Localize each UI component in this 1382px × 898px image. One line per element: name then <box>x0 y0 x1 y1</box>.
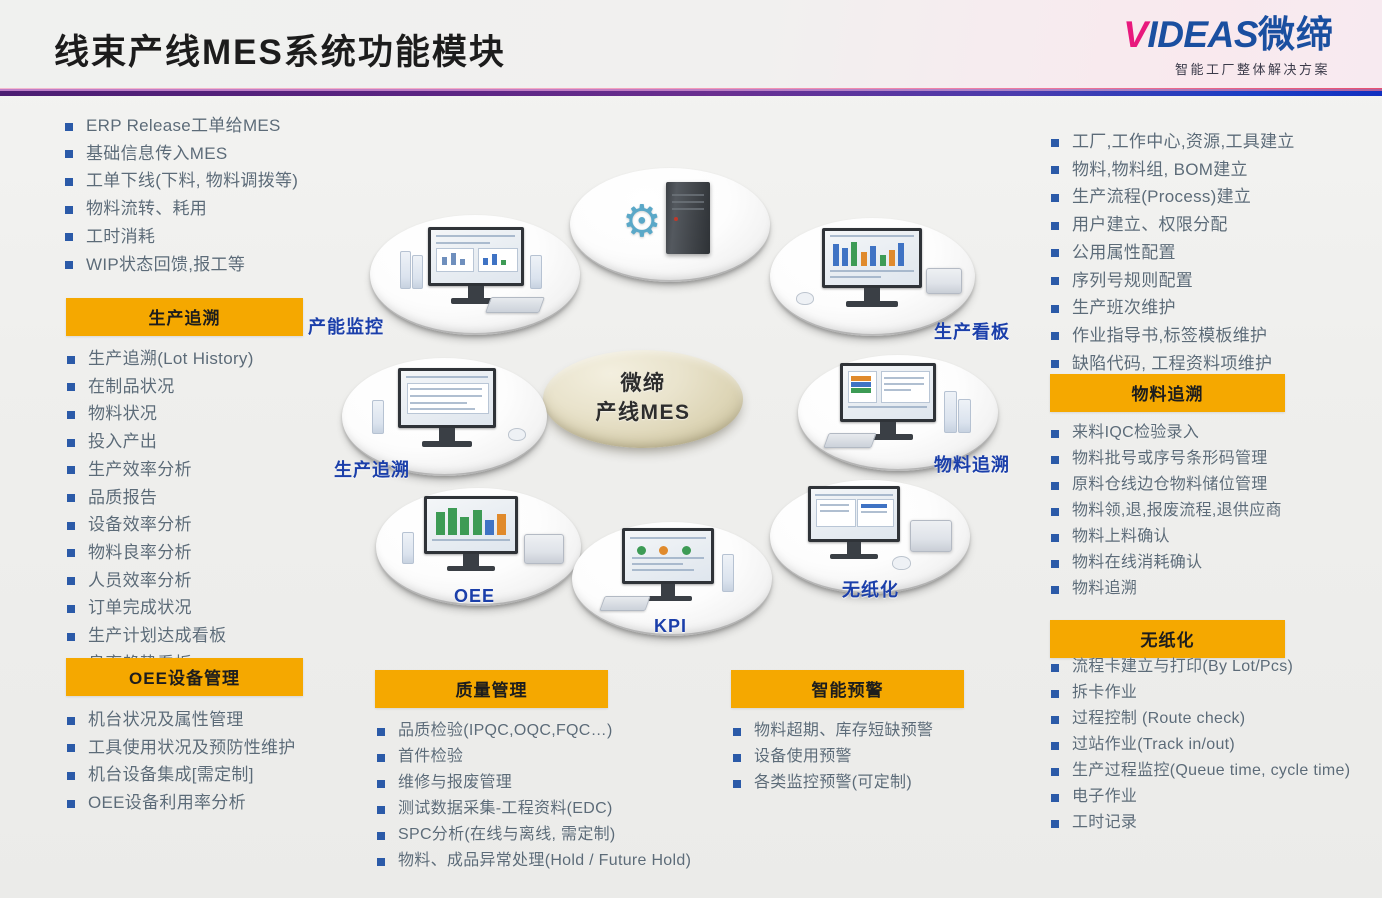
list-item: 机台状况及属性管理 <box>62 706 382 734</box>
node-label-production-dashboard: 生产看板 <box>934 318 1010 344</box>
list-item: 电子作业 <box>1046 784 1381 810</box>
mouse-icon <box>892 556 911 570</box>
right-intro-items: 工厂,工作中心,资源,工具建立 物料,物料组, BOM建立 生产流程(Proce… <box>1046 128 1366 377</box>
logo-v-letter: V <box>1123 14 1147 55</box>
panel-material-trace-items: 来料IQC检验录入 物料批号或序号条形码管理 原料仓线边仓物料储位管理 物料领,… <box>1046 420 1376 603</box>
panel-oee-items: 机台状况及属性管理 工具使用状况及预防性维护 机台设备集成[需定制] OEE设备… <box>62 706 382 817</box>
divider-main-line <box>0 91 1382 96</box>
list-item: 拆卡作业 <box>1046 680 1381 706</box>
equipment-bottle-icon <box>372 400 384 434</box>
list-item: 作业指导书,标签模板维护 <box>1046 322 1366 350</box>
list-item: 维修与报废管理 <box>372 770 772 796</box>
list-item: 品质检验(IPQC,OQC,FQC…) <box>372 718 772 744</box>
slide-canvas: 线束产线MES系统功能模块 VIDEAS微缔 智能工厂整体解决方案 ERP Re… <box>0 0 1382 898</box>
oee-list: 机台状况及属性管理 工具使用状况及预防性维护 机台设备集成[需定制] OEE设备… <box>62 706 382 817</box>
list-item: 机台设备集成[需定制] <box>62 761 382 789</box>
hub-label-line1: 微缔 <box>595 370 690 399</box>
monitor-screen <box>840 363 936 422</box>
paperless-monitor-icon <box>808 486 900 564</box>
monitor-content <box>625 531 711 581</box>
logo-tagline: 智能工厂整体解决方案 <box>1034 59 1334 78</box>
monitor-content <box>401 371 493 425</box>
logo-chinese-name: 微缔 <box>1258 14 1334 55</box>
list-item: 来料IQC检验录入 <box>1046 420 1376 446</box>
list-item: SPC分析(在线与离线, 需定制) <box>372 822 772 848</box>
equipment-bottle-icon <box>412 255 423 289</box>
kpi-monitor-icon <box>622 528 714 606</box>
node-label-oee: OEE <box>454 586 495 607</box>
monitor-content <box>811 489 897 539</box>
node-label-paperless: 无纸化 <box>842 576 899 602</box>
list-item: 首件检验 <box>372 744 772 770</box>
equipment-bottle-icon <box>400 251 411 289</box>
monitor-stand <box>880 422 895 435</box>
monitor-base <box>830 554 878 559</box>
monitor-base <box>846 301 898 307</box>
panel-paperless-items: 流程卡建立与打印(By Lot/Pcs) 拆卡作业 过程控制 (Route ch… <box>1046 654 1381 837</box>
panel-quality-items: 品质检验(IPQC,OQC,FQC…) 首件检验 维修与报废管理 测试数据采集-… <box>372 718 772 874</box>
list-item: 各类监控预警(可定制) <box>728 770 1028 796</box>
slide-header: 线束产线MES系统功能模块 VIDEAS微缔 智能工厂整体解决方案 <box>0 0 1382 92</box>
monitor-content <box>825 231 919 285</box>
header-divider <box>0 88 1382 97</box>
node-production-traceability[interactable]: 生产追溯 <box>342 358 547 474</box>
mes-hub-diagram: 微缔 产线MES <box>300 150 1090 690</box>
node-paperless[interactable]: 无纸化 <box>770 480 970 592</box>
node-production-dashboard[interactable]: 生产看板 <box>770 218 975 334</box>
traceability-monitor-icon <box>398 368 496 452</box>
material-trace-list: 来料IQC检验录入 物料批号或序号条形码管理 原料仓线边仓物料储位管理 物料领,… <box>1046 420 1376 603</box>
hub-label: 微缔 产线MES <box>595 370 690 428</box>
mouse-icon <box>508 428 526 441</box>
monitor-content <box>427 499 515 551</box>
quality-list: 品质检验(IPQC,OQC,FQC…) 首件检验 维修与报废管理 测试数据采集-… <box>372 718 772 874</box>
oee-monitor-icon <box>424 496 518 576</box>
server-tower-icon <box>666 182 710 254</box>
list-item: 工厂,工作中心,资源,工具建立 <box>1046 128 1366 156</box>
equipment-bottle-icon <box>530 255 542 289</box>
hub-label-line2: 产线MES <box>595 399 690 428</box>
monitor-screen <box>428 227 524 286</box>
smart-alert-list: 物料超期、库存短缺预警 设备使用预警 各类监控预警(可定制) <box>728 718 1028 796</box>
node-oee[interactable]: OEE <box>376 488 581 604</box>
monitor-stand <box>463 554 478 567</box>
list-item: 物料批号或序号条形码管理 <box>1046 446 1376 472</box>
list-item: OEE设备利用率分析 <box>62 789 382 817</box>
mouse-icon <box>796 292 814 305</box>
gear-icon: ⚙ <box>622 200 661 244</box>
page-title: 线束产线MES系统功能模块 <box>54 24 506 75</box>
list-item: ERP Release工单给MES <box>60 112 360 140</box>
list-item: 序列号规则配置 <box>1046 267 1366 295</box>
list-item: 原料仓线边仓物料储位管理 <box>1046 472 1376 498</box>
panel-oee-management: OEE设备管理 <box>66 658 303 696</box>
list-item: 过程控制 (Route check) <box>1046 706 1381 732</box>
list-item: 生产流程(Process)建立 <box>1046 183 1366 211</box>
node-label-kpi: KPI <box>654 616 687 637</box>
panel-caption-production-trace: 生产追溯 <box>66 298 303 336</box>
keyboard-icon <box>599 596 650 611</box>
monitor-stand <box>439 428 455 441</box>
panel-smart-alert-items: 物料超期、库存短缺预警 设备使用预警 各类监控预警(可定制) <box>728 718 1028 796</box>
list-item: 工时记录 <box>1046 810 1381 836</box>
list-item: 生产班次维护 <box>1046 294 1366 322</box>
list-item: 物料在线消耗确认 <box>1046 550 1376 576</box>
monitor-stand <box>864 288 880 301</box>
node-system-core[interactable]: ⚙ <box>570 168 770 280</box>
monitor-base <box>644 596 692 601</box>
list-item: 物料上料确认 <box>1046 524 1376 550</box>
monitor-screen <box>808 486 900 542</box>
monitor-stand <box>468 286 483 299</box>
paperless-list: 流程卡建立与打印(By Lot/Pcs) 拆卡作业 过程控制 (Route ch… <box>1046 654 1381 837</box>
equipment-bottle-icon <box>722 554 734 592</box>
list-item: 物料超期、库存短缺预警 <box>728 718 1028 744</box>
list-item: 测试数据采集-工程资料(EDC) <box>372 796 772 822</box>
node-material-traceability[interactable]: 物料追溯 <box>798 355 998 469</box>
list-item: 公用属性配置 <box>1046 239 1366 267</box>
logo-wordmark: VIDEAS微缔 <box>1034 16 1334 55</box>
node-label-material-traceability: 物料追溯 <box>934 451 1010 477</box>
node-capacity-monitoring[interactable]: 产能监控 <box>370 215 580 333</box>
equipment-bottle-icon <box>402 532 414 564</box>
monitor-stand <box>661 584 676 596</box>
monitor-base <box>422 441 473 447</box>
monitor-content <box>843 366 933 419</box>
list-item: 物料领,退,报废流程,退供应商 <box>1046 498 1376 524</box>
right-intro-list: 工厂,工作中心,资源,工具建立 物料,物料组, BOM建立 生产流程(Proce… <box>1046 128 1366 377</box>
logo-ideas-text: IDEAS <box>1147 14 1258 55</box>
monitor-content <box>431 230 521 283</box>
printer-icon <box>926 268 962 294</box>
diagram-hub: 微缔 产线MES <box>543 350 743 448</box>
keyboard-icon <box>823 433 876 448</box>
list-item: 物料,物料组, BOM建立 <box>1046 156 1366 184</box>
panel-production-trace: 生产追溯 <box>66 298 303 336</box>
monitor-base <box>447 566 496 572</box>
list-item: 流程卡建立与打印(By Lot/Pcs) <box>1046 654 1381 680</box>
list-item: 物料、成品异常处理(Hold / Future Hold) <box>372 848 772 874</box>
dashboard-monitor-icon <box>822 228 922 312</box>
list-item: 工具使用状况及预防性维护 <box>62 734 382 762</box>
brand-logo: VIDEAS微缔 智能工厂整体解决方案 <box>1034 16 1334 78</box>
printer-icon <box>910 520 952 552</box>
list-item: 用户建立、权限分配 <box>1046 211 1366 239</box>
list-item: 物料追溯 <box>1046 576 1376 602</box>
list-item: 设备使用预警 <box>728 744 1028 770</box>
monitor-screen <box>822 228 922 288</box>
divider-glow-line <box>0 89 1382 91</box>
equipment-bottle-icon <box>958 399 971 433</box>
printer-icon <box>524 534 564 564</box>
node-label-production-traceability: 生产追溯 <box>334 456 410 482</box>
node-label-capacity-monitoring: 产能监控 <box>308 313 384 339</box>
panel-caption-oee: OEE设备管理 <box>66 658 303 696</box>
node-kpi[interactable]: KPI <box>572 522 772 634</box>
list-item: 生产过程监控(Queue time, cycle time) <box>1046 758 1381 784</box>
equipment-bottle-icon <box>944 391 957 433</box>
monitor-screen <box>622 528 714 584</box>
monitor-stand <box>847 542 862 554</box>
list-item: 过站作业(Track in/out) <box>1046 732 1381 758</box>
keyboard-icon <box>485 297 545 313</box>
monitor-screen <box>424 496 518 554</box>
monitor-screen <box>398 368 496 428</box>
